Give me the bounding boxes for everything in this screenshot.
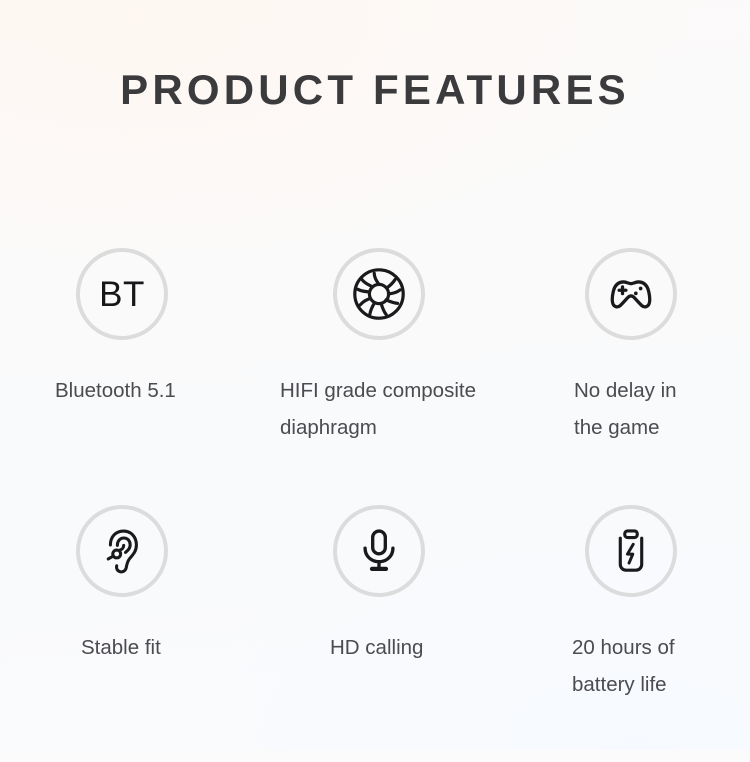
feature-label: No delay in the game: [527, 372, 737, 446]
feature-item-calling: HD calling: [275, 505, 485, 666]
feature-icon-circle: BT: [76, 248, 168, 340]
feature-row: BT Bluetooth 5.1: [0, 248, 750, 505]
feature-item-game: No delay in the game: [527, 248, 737, 446]
feature-label: Bluetooth 5.1: [17, 372, 227, 409]
feature-item-bluetooth: BT Bluetooth 5.1: [17, 248, 227, 409]
feature-label: Stable fit: [17, 629, 227, 666]
feature-icon-circle: [333, 505, 425, 597]
feature-icon-circle: [333, 248, 425, 340]
page-content: PRODUCT FEATURES BT Bluetooth 5.1: [0, 0, 750, 750]
speaker-diaphragm-icon: [351, 266, 407, 322]
feature-icon-circle: [585, 248, 677, 340]
feature-row: Stable fit HD calling: [0, 505, 750, 762]
feature-label: HD calling: [275, 629, 485, 666]
feature-label: 20 hours of battery life: [527, 629, 737, 703]
feature-item-battery: 20 hours of battery life: [527, 505, 737, 703]
feature-item-diaphragm: HIFI grade composite diaphragm: [275, 248, 485, 446]
feature-item-fit: Stable fit: [17, 505, 227, 666]
product-features-page: PRODUCT FEATURES BT Bluetooth 5.1: [0, 0, 750, 750]
bluetooth-bt-text-icon: BT: [99, 277, 145, 312]
feature-icon-circle: [76, 505, 168, 597]
game-controller-icon: [604, 267, 658, 321]
ear-icon: [96, 525, 148, 577]
battery-charging-icon: [606, 526, 656, 576]
feature-icon-circle: [585, 505, 677, 597]
page-title: PRODUCT FEATURES: [0, 66, 750, 114]
feature-grid: BT Bluetooth 5.1: [0, 248, 750, 762]
feature-label: HIFI grade composite diaphragm: [275, 372, 485, 446]
microphone-icon: [353, 525, 405, 577]
